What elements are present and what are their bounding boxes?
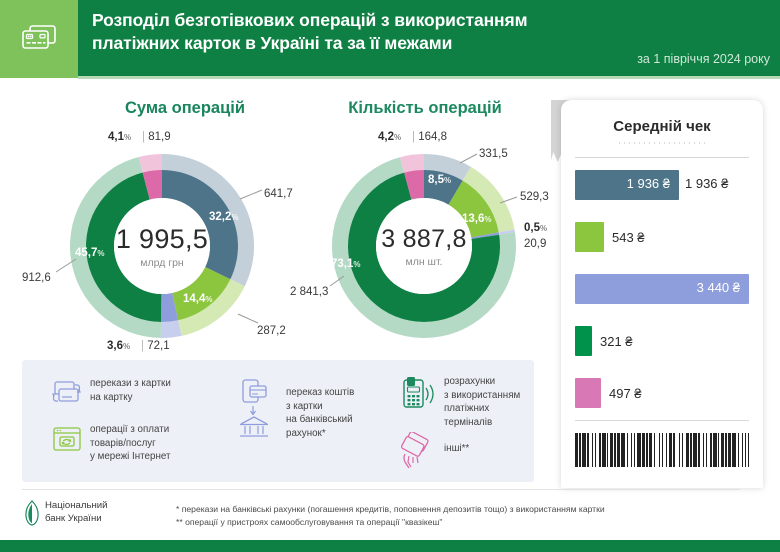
pct-sum-other: 4,1% [108,131,131,143]
donut-chart-sum: 1 995,5 млрд грн [68,152,256,340]
pct-count-card-to-account: 0,5% [524,222,547,234]
card-to-account-icon [236,378,280,440]
receipt-bar-card-to-card [575,326,592,356]
legend-label-card-to-card: перекази з картки на картку [84,376,171,404]
value-count-card-to-card: 2 841,3 [290,286,328,298]
pct-sum-internet: 14,4% [183,293,213,305]
receipt-dotted-divider [617,142,707,144]
footnote-1: * перекази на банківські рахунки (погаше… [176,503,605,516]
value-count-internet: 529,3 [520,191,549,203]
legend-panel: перекази з картки на картку операції з о… [22,360,534,482]
legend-label-other: інші** [438,432,469,456]
donut-halo-card-to-account [161,320,182,338]
receipt-row-card-to-card: 321 ₴ [575,326,633,356]
donut-halo-other [139,154,162,173]
pct-count-card-to-card: 73,1% [331,258,361,270]
legend-label-internet: операції з оплати товарів/послуг у мереж… [84,422,170,464]
footer-bar [0,540,780,552]
receipt-bar-other [575,378,601,408]
legend-item-other: інші** [398,432,528,472]
value-count-other: | 164,8 [412,131,447,143]
value-count-terminals: 331,5 [479,148,508,160]
header-subtitle: за 1 півріччя 2024 року [637,52,770,66]
donut-hole [114,198,210,294]
donut-chart-count: 3 887,8 млн шт. [330,152,518,340]
receipt-title: Середній чек [561,118,763,135]
other-card-hand-icon [398,432,438,472]
legend-item-terminals: розрахунки з використанням платіжних тер… [398,374,538,429]
infographic-page: Розподіл безготівкових операцій з викори… [0,0,780,552]
receipt-row-internet: 543 ₴ [575,222,645,252]
legend-item-card-to-account: переказ коштів з картки на банківський р… [236,378,396,440]
value-sum-other: | 81,9 [142,131,171,143]
footer-divider [22,489,740,490]
pct-count-internet: 13,6% [462,213,492,225]
receipt-hr-bottom [575,420,749,421]
pct-count-terminals: 8,5% [428,174,451,186]
footnote-2: ** операції у пристроях самообслуговуван… [176,516,605,529]
pos-terminal-icon [398,374,438,414]
chart-title-count: Кількість операцій [310,99,540,118]
header-rule [78,76,780,79]
header-icon-box [0,0,78,78]
receipt-row-card-to-account: 3 440 ₴ [575,274,749,304]
value-sum-card-to-account: | 72,1 [141,340,170,352]
value-sum-card-to-card: 912,6 [22,272,51,284]
receipt-amount-terminals-outer: 1 936 ₴ [685,176,728,191]
legend-label-card-to-account: переказ коштів з картки на банківський р… [280,378,354,440]
donut-halo-other [400,154,424,173]
donut-svg-count [330,152,518,340]
header: Розподіл безготівкових операцій з викори… [0,0,780,78]
payment-cards-icon [19,22,59,56]
card-to-card-icon [50,376,84,410]
receipt-amount-card-to-card: 321 ₴ [600,334,633,349]
pct-sum-card-to-account: 3,6% [107,340,130,352]
donut-hole [376,198,472,294]
receipt-bar-terminals: 1 936 ₴ [575,170,679,200]
pct-count-other: 4,2% [378,131,401,143]
receipt-hr-top [575,157,749,158]
value-sum-internet: 287,2 [257,325,286,337]
header-text-block: Розподіл безготівкових операцій з викори… [92,9,770,55]
legend-label-terminals: розрахунки з використанням платіжних тер… [438,374,520,429]
legend-item-card-to-card: перекази з картки на картку [50,376,200,410]
receipt-amount-internet: 543 ₴ [612,230,645,245]
receipt-row-other: 497 ₴ [575,378,642,408]
pct-sum-card-to-card: 45,7% [75,247,105,259]
footnotes: * перекази на банківські рахунки (погаше… [176,503,605,530]
receipt-panel: Середній чек 1 936 ₴ 1 936 ₴ 543 ₴ 3 440… [561,100,763,488]
receipt-bar-card-to-account: 3 440 ₴ [575,274,749,304]
receipt-bar-internet [575,222,604,252]
receipt-amount-terminals: 1 936 ₴ [627,176,670,191]
chart-title-sum: Сума операцій [70,99,300,118]
value-count-card-to-account: 20,9 [524,238,546,250]
value-sum-terminals: 641,7 [264,188,293,200]
legend-item-internet: операції з оплати товарів/послуг у мереж… [50,422,200,464]
receipt-row-terminals: 1 936 ₴ [575,170,679,200]
internet-payment-icon [50,422,84,456]
donut-svg-sum [68,152,256,340]
receipt-amount-other: 497 ₴ [609,386,642,401]
nbu-logo: Національний банк України [24,500,107,526]
nbu-logo-icon [24,500,40,526]
header-title-line1: Розподіл безготівкових операцій з викори… [92,9,770,32]
barcode-icon [575,433,749,467]
nbu-logo-text: Національний банк України [40,500,107,525]
pct-sum-terminals: 32,2% [209,211,239,223]
receipt-amount-card-to-account: 3 440 ₴ [697,280,740,295]
